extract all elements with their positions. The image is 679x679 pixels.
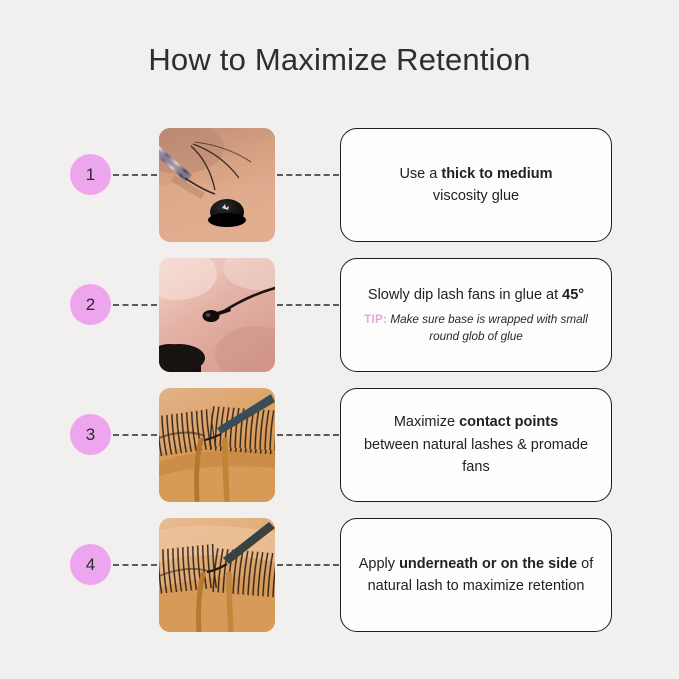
step-text-bold: contact points: [459, 414, 558, 430]
tip-label: TIP:: [364, 314, 387, 326]
connector-dash-right-3: [277, 434, 339, 436]
step-number-badge-2: 2: [70, 284, 111, 325]
step-text-prefix: Maximize: [394, 414, 459, 430]
step-number-badge-1: 1: [70, 154, 111, 195]
tip-text: Make sure base is wrapped with small rou…: [390, 313, 587, 343]
step-photo-4: [159, 518, 275, 632]
connector-dash-left-1: [113, 174, 157, 176]
page-title: How to Maximize Retention: [0, 42, 679, 78]
step-number-label: 3: [86, 425, 95, 445]
step-text-line2: viscosity glue: [433, 188, 519, 204]
step-text-prefix: Apply: [359, 556, 399, 572]
connector-dash-left-3: [113, 434, 157, 436]
step-photo-1: [159, 128, 275, 242]
step-photo-2: [159, 258, 275, 372]
step-text-3: Maximize contact points between natural …: [355, 411, 597, 478]
step-text-4: Apply underneath or on the side of natur…: [355, 553, 597, 598]
infographic-root: How to Maximize Retention 1: [0, 0, 679, 679]
step-text-bold: 45°: [562, 287, 584, 303]
step-row-4: 4: [0, 518, 679, 633]
step-row-1: 1: [0, 128, 679, 243]
step-tip-2: TIP: Make sure base is wrapped with smal…: [355, 312, 597, 346]
step-text-prefix: Use a: [399, 166, 441, 182]
step-card-3: Maximize contact points between natural …: [340, 388, 612, 502]
step-card-4: Apply underneath or on the side of natur…: [340, 518, 612, 632]
step-text-prefix: Slowly dip lash fans in glue at: [368, 287, 562, 303]
step-text-2: Slowly dip lash fans in glue at 45°: [368, 284, 584, 306]
step-text-bold: thick to medium: [441, 166, 552, 182]
step-number-label: 2: [86, 295, 95, 315]
connector-dash-left-4: [113, 564, 157, 566]
step-number-badge-4: 4: [70, 544, 111, 585]
connector-dash-left-2: [113, 304, 157, 306]
step-number-label: 4: [86, 555, 95, 575]
step-card-1: Use a thick to medium viscosity glue: [340, 128, 612, 242]
step-number-badge-3: 3: [70, 414, 111, 455]
connector-dash-right-1: [277, 174, 339, 176]
step-card-2: Slowly dip lash fans in glue at 45° TIP:…: [340, 258, 612, 372]
step-photo-3: [159, 388, 275, 502]
connector-dash-right-4: [277, 564, 339, 566]
step-text-1: Use a thick to medium viscosity glue: [399, 163, 552, 208]
step-row-3: 3: [0, 388, 679, 503]
connector-dash-right-2: [277, 304, 339, 306]
step-text-bold: underneath or on the side: [399, 556, 577, 572]
step-text-line2: between natural lashes & promade fans: [364, 437, 588, 475]
step-number-label: 1: [86, 165, 95, 185]
step-row-2: 2: [0, 258, 679, 373]
